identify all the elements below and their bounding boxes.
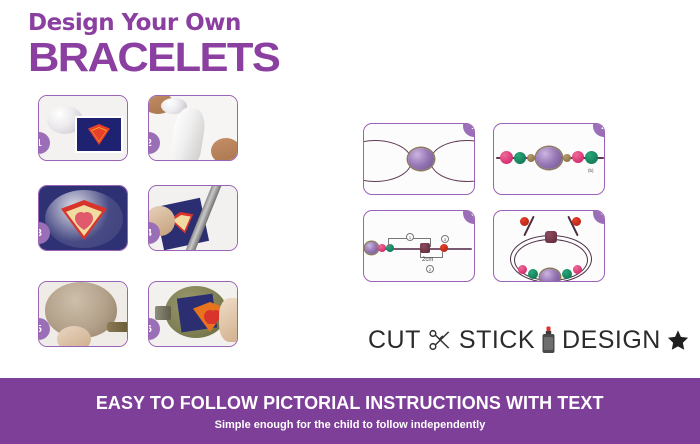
- photo-step-1-card[interactable]: 1: [38, 95, 128, 161]
- cut-stick-design-logo: CUT STICK DESIGN: [368, 326, 689, 354]
- photo-step-2-card[interactable]: 2: [148, 95, 238, 161]
- star-icon: [667, 329, 689, 351]
- stick-label: STICK: [459, 328, 535, 353]
- diagram-step-3-marker-2: 2: [426, 265, 434, 273]
- photo-step-1-image: [39, 96, 127, 160]
- photo-step-5-card[interactable]: 5: [38, 281, 128, 347]
- photo-step-2-image: [149, 96, 237, 160]
- photo-step-4-image: [149, 186, 237, 250]
- photo-step-6-image: [149, 282, 237, 346]
- diagram-step-4-card[interactable]: 4: [493, 210, 605, 282]
- design-label: DESIGN: [562, 328, 661, 353]
- footer-banner: EASY TO FOLLOW PICTORIAL INSTRUCTIONS WI…: [0, 378, 700, 444]
- page-title-line-1: Design Your Own: [28, 12, 288, 35]
- diagram-step-1-card[interactable]: 1: [363, 123, 475, 195]
- scissors-icon: [427, 327, 453, 353]
- footer-headline: EASY TO FOLLOW PICTORIAL INSTRUCTIONS WI…: [96, 392, 604, 414]
- diagram-step-2-annotation: (b): [588, 168, 594, 173]
- diagram-step-3-marker-3: 3: [441, 235, 449, 243]
- page-title-line-2: BRACELETS: [28, 36, 304, 79]
- diagram-step-1-image: [364, 124, 474, 194]
- photo-step-4-card[interactable]: 4: [148, 185, 238, 251]
- diagram-step-3-card[interactable]: 1 2cm 2 3 3: [363, 210, 475, 282]
- photo-step-3-card[interactable]: 3: [38, 185, 128, 251]
- diagram-step-3-image: 1 2cm 2 3: [364, 211, 474, 281]
- diagram-step-2-image: (b): [494, 124, 604, 194]
- diagram-step-3-measure-label: 2cm: [422, 257, 433, 263]
- diagram-step-3-marker-1: 1: [406, 233, 414, 241]
- cut-label: CUT: [368, 328, 421, 353]
- photo-step-5-image: [39, 282, 127, 346]
- diagram-step-2-card[interactable]: (b) 2: [493, 123, 605, 195]
- photo-step-3-image: [39, 186, 127, 250]
- diagram-step-4-image: [494, 211, 604, 281]
- glue-bottle-icon: [541, 326, 556, 354]
- photo-step-6-card[interactable]: 6: [148, 281, 238, 347]
- page-title: Design Your Own BRACELETS: [28, 12, 288, 79]
- footer-subline: Simple enough for the child to follow in…: [215, 419, 486, 431]
